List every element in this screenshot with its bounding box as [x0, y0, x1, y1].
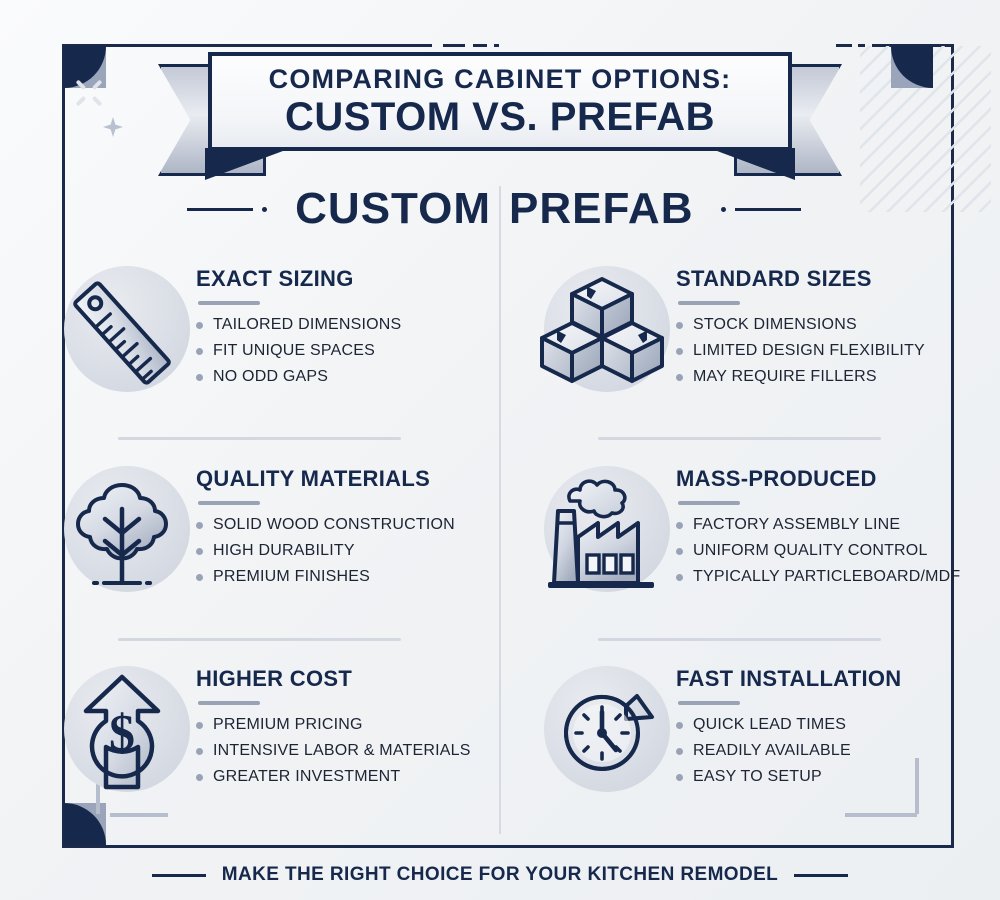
bullet-dot-icon	[676, 574, 683, 581]
list-item: NO ODD GAPS	[196, 368, 401, 386]
bullet-dot-icon	[196, 774, 203, 781]
list-item: QUICK LEAD TIMES	[676, 716, 902, 734]
bullet-text: EASY TO SETUP	[693, 768, 822, 786]
section-bullets: QUICK LEAD TIMES READILY AVAILABLE EASY …	[676, 716, 902, 786]
list-item: PREMIUM PRICING	[196, 716, 471, 734]
frame-bottom-line	[62, 845, 954, 848]
title-ribbon: COMPARING CABINET OPTIONS: CUSTOM VS. PR…	[0, 22, 1000, 172]
section-higher-cost: $ HIGHER COST PREMIUM PRICING INTENSIVE …	[48, 658, 498, 818]
section-title: MASS-PRODUCED	[676, 466, 960, 492]
list-item: EASY TO SETUP	[676, 768, 902, 786]
footer-text: MAKE THE RIGHT CHOICE FOR YOUR KITCHEN R…	[222, 864, 778, 886]
bullet-text: UNIFORM QUALITY CONTROL	[693, 542, 928, 560]
section-fast-installation: FAST INSTALLATION QUICK LEAD TIMES READI…	[528, 658, 978, 818]
ruler-icon	[60, 271, 184, 395]
header-rule-left	[187, 207, 267, 212]
bullet-dot-icon	[196, 548, 203, 555]
icon-cell	[528, 658, 676, 808]
bullet-dot-icon	[196, 348, 203, 355]
tree-icon	[60, 471, 184, 595]
bullet-text: LIMITED DESIGN FLEXIBILITY	[693, 342, 925, 360]
factory-icon	[540, 471, 664, 595]
bullet-dot-icon	[196, 748, 203, 755]
list-item: UNIFORM QUALITY CONTROL	[676, 542, 960, 560]
row-divider-left-1	[118, 437, 401, 440]
title-plate: COMPARING CABINET OPTIONS: CUSTOM VS. PR…	[208, 52, 792, 151]
section-quality-materials: QUALITY MATERIALS SOLID WOOD CONSTRUCTIO…	[48, 458, 498, 618]
icon-cell	[528, 458, 676, 608]
bullet-dot-icon	[676, 722, 683, 729]
title-underline	[678, 301, 740, 305]
bullet-text: QUICK LEAD TIMES	[693, 716, 846, 734]
section-title: QUALITY MATERIALS	[196, 466, 455, 492]
bullet-dot-icon	[196, 574, 203, 581]
section-title: HIGHER COST	[196, 666, 471, 692]
list-item: STOCK DIMENSIONS	[676, 316, 925, 334]
section-title: FAST INSTALLATION	[676, 666, 902, 692]
section-bullets: STOCK DIMENSIONS LIMITED DESIGN FLEXIBIL…	[676, 316, 925, 386]
section-exact-sizing: EXACT SIZING TAILORED DIMENSIONS FIT UNI…	[48, 258, 498, 418]
section-bullets: FACTORY ASSEMBLY LINE UNIFORM QUALITY CO…	[676, 516, 960, 586]
icon-cell	[528, 258, 676, 408]
bullet-dot-icon	[676, 348, 683, 355]
title-underline	[678, 701, 740, 705]
center-divider	[499, 186, 501, 834]
column-title-custom: CUSTOM	[295, 184, 491, 234]
bullet-text: TAILORED DIMENSIONS	[213, 316, 401, 334]
section-title: STANDARD SIZES	[676, 266, 925, 292]
list-item: TAILORED DIMENSIONS	[196, 316, 401, 334]
bullet-text: NO ODD GAPS	[213, 368, 328, 386]
bullet-dot-icon	[196, 722, 203, 729]
icon-cell: $	[48, 658, 196, 808]
list-item: PREMIUM FINISHES	[196, 568, 455, 586]
title-subline: COMPARING CABINET OPTIONS:	[269, 65, 732, 95]
row-divider-right-1	[598, 437, 881, 440]
bullet-dot-icon	[196, 322, 203, 329]
bullet-dot-icon	[676, 774, 683, 781]
svg-text:$: $	[109, 705, 135, 762]
bullet-text: READILY AVAILABLE	[693, 742, 851, 760]
list-item: FACTORY ASSEMBLY LINE	[676, 516, 960, 534]
bullet-text: SOLID WOOD CONSTRUCTION	[213, 516, 455, 534]
clock-arrow-icon	[540, 671, 664, 795]
bullet-dot-icon	[676, 548, 683, 555]
title-underline	[678, 501, 740, 505]
icon-cell	[48, 458, 196, 608]
section-title: EXACT SIZING	[196, 266, 401, 292]
section-mass-produced: MASS-PRODUCED FACTORY ASSEMBLY LINE UNIF…	[528, 458, 978, 618]
dollar-up-arrow-icon: $	[60, 671, 184, 795]
list-item: MAY REQUIRE FILLERS	[676, 368, 925, 386]
section-standard-sizes: STANDARD SIZES STOCK DIMENSIONS LIMITED …	[528, 258, 978, 418]
bullet-text: HIGH DURABILITY	[213, 542, 355, 560]
icon-cell	[48, 258, 196, 408]
bullet-text: FIT UNIQUE SPACES	[213, 342, 375, 360]
section-text: EXACT SIZING TAILORED DIMENSIONS FIT UNI…	[196, 258, 401, 418]
list-item: INTENSIVE LABOR & MATERIALS	[196, 742, 471, 760]
list-item: SOLID WOOD CONSTRUCTION	[196, 516, 455, 534]
bullet-text: MAY REQUIRE FILLERS	[693, 368, 877, 386]
section-text: MASS-PRODUCED FACTORY ASSEMBLY LINE UNIF…	[676, 458, 960, 618]
bullet-dot-icon	[676, 374, 683, 381]
bullet-dot-icon	[676, 748, 683, 755]
title-underline	[198, 301, 260, 305]
bullet-text: PREMIUM PRICING	[213, 716, 363, 734]
footer-rule-left	[152, 874, 206, 877]
section-text: STANDARD SIZES STOCK DIMENSIONS LIMITED …	[676, 258, 925, 418]
row-divider-left-2	[118, 638, 401, 641]
stacked-boxes-icon	[540, 271, 664, 395]
list-item: HIGH DURABILITY	[196, 542, 455, 560]
column-header-prefab: PREFAB	[509, 178, 964, 240]
bullet-dot-icon	[676, 522, 683, 529]
bullet-dot-icon	[676, 322, 683, 329]
section-text: FAST INSTALLATION QUICK LEAD TIMES READI…	[676, 658, 902, 818]
infographic-poster: COMPARING CABINET OPTIONS: CUSTOM VS. PR…	[0, 0, 1000, 900]
list-item: GREATER INVESTMENT	[196, 768, 471, 786]
column-title-prefab: PREFAB	[509, 184, 693, 234]
list-item: LIMITED DESIGN FLEXIBILITY	[676, 342, 925, 360]
header-rule-right	[721, 207, 801, 212]
bullet-text: TYPICALLY PARTICLEBOARD/MDF	[693, 568, 960, 586]
list-item: TYPICALLY PARTICLEBOARD/MDF	[676, 568, 960, 586]
bullet-dot-icon	[196, 522, 203, 529]
bullet-text: GREATER INVESTMENT	[213, 768, 400, 786]
list-item: FIT UNIQUE SPACES	[196, 342, 401, 360]
section-bullets: PREMIUM PRICING INTENSIVE LABOR & MATERI…	[196, 716, 471, 786]
bullet-text: STOCK DIMENSIONS	[693, 316, 857, 334]
title-underline	[198, 501, 260, 505]
footer-callout: MAKE THE RIGHT CHOICE FOR YOUR KITCHEN R…	[0, 858, 1000, 892]
title-mainline: CUSTOM VS. PREFAB	[285, 96, 715, 138]
bullet-text: FACTORY ASSEMBLY LINE	[693, 516, 900, 534]
column-header-custom: CUSTOM	[36, 178, 491, 240]
section-bullets: TAILORED DIMENSIONS FIT UNIQUE SPACES NO…	[196, 316, 401, 386]
footer-rule-right	[794, 874, 848, 877]
section-text: HIGHER COST PREMIUM PRICING INTENSIVE LA…	[196, 658, 471, 818]
section-text: QUALITY MATERIALS SOLID WOOD CONSTRUCTIO…	[196, 458, 455, 618]
bullet-text: INTENSIVE LABOR & MATERIALS	[213, 742, 471, 760]
row-divider-right-2	[598, 638, 881, 641]
title-underline	[198, 701, 260, 705]
bullet-dot-icon	[196, 374, 203, 381]
bullet-text: PREMIUM FINISHES	[213, 568, 370, 586]
list-item: READILY AVAILABLE	[676, 742, 902, 760]
section-bullets: SOLID WOOD CONSTRUCTION HIGH DURABILITY …	[196, 516, 455, 586]
